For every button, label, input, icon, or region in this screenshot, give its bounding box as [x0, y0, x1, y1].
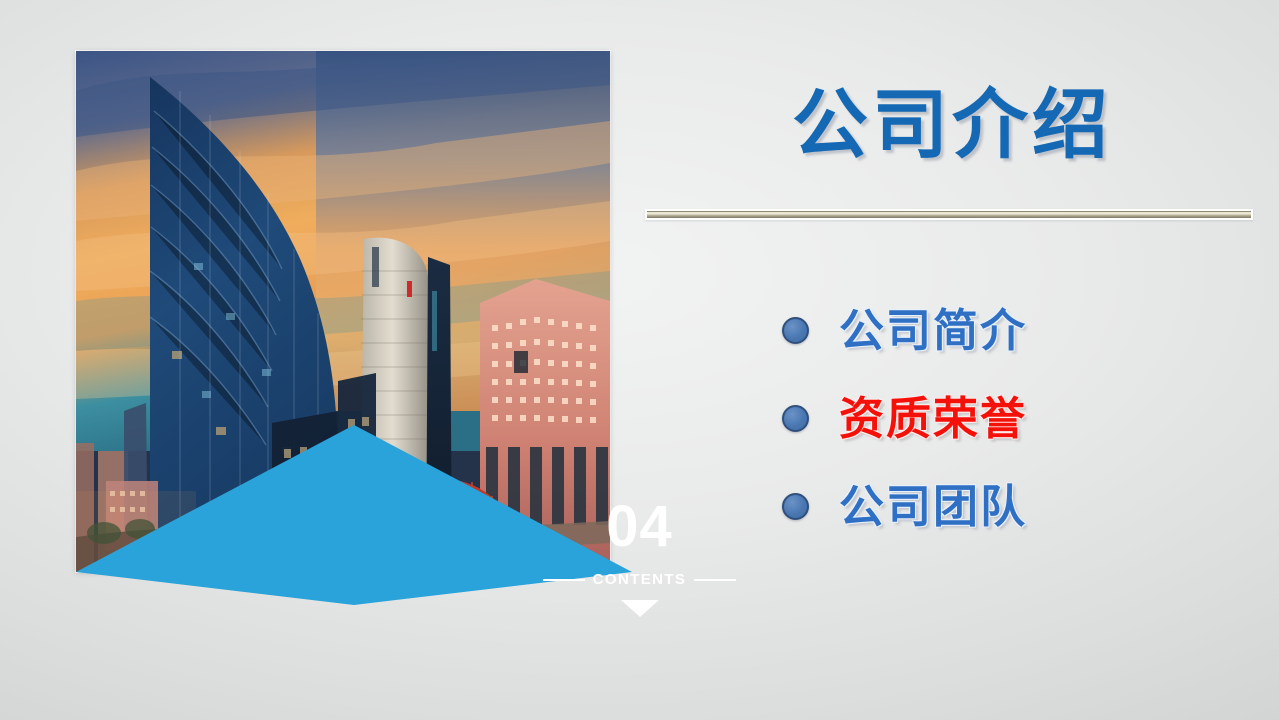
caption-rule-right — [694, 579, 736, 581]
caption-rule-left — [543, 579, 585, 581]
presentation-slide: 04 CONTENTS 公司介绍 公司简介 资质荣誉 公司团队 — [0, 0, 1279, 720]
cityscape-photo — [76, 51, 610, 572]
cityscape-photo-frame — [76, 51, 610, 572]
contents-list: 公司简介 资质荣誉 公司团队 — [782, 286, 1252, 550]
bullet-dot-icon — [782, 317, 809, 344]
triangle-down-icon — [0, 600, 1279, 617]
badge-caption: CONTENTS — [0, 572, 1279, 587]
list-item-label: 资质荣誉 — [839, 396, 1027, 441]
bullet-dot-icon — [782, 493, 809, 520]
cityscape-illustration — [76, 51, 610, 572]
list-item-label: 公司团队 — [839, 484, 1027, 529]
badge-caption-label: CONTENTS — [593, 572, 687, 587]
bullet-dot-icon — [782, 405, 809, 432]
list-item[interactable]: 公司简介 — [782, 286, 1252, 374]
title-divider — [645, 209, 1253, 220]
list-item[interactable]: 公司团队 — [782, 462, 1252, 550]
page-title: 公司介绍 — [645, 86, 1259, 166]
list-item[interactable]: 资质荣誉 — [782, 374, 1252, 462]
list-item-label: 公司简介 — [839, 308, 1027, 353]
